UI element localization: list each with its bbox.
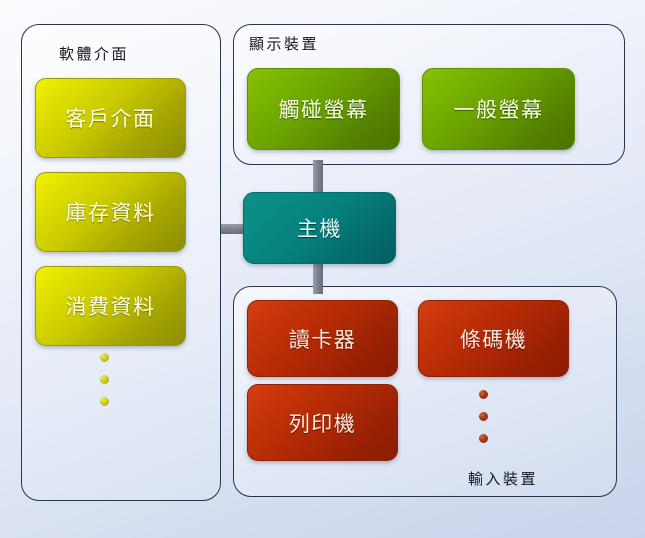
node-label-host: 主機 [297,213,342,243]
node-label-printer: 列印機 [289,408,357,438]
ellipsis-dot-input-2 [479,412,488,421]
group-label-input-devices: 輸入裝置 [468,468,538,489]
node-host[interactable]: 主機 [243,192,396,264]
node-label-consumption-data: 消費資料 [66,291,156,321]
ellipsis-dot-input-1 [479,390,488,399]
node-touch-screen[interactable]: 觸碰螢幕 [247,68,400,150]
ellipsis-dot-input-3 [479,434,488,443]
node-label-customer-interface: 客戶介面 [66,103,156,133]
node-inventory-data[interactable]: 庫存資料 [35,172,186,252]
node-label-touch-screen: 觸碰螢幕 [279,94,369,124]
node-customer-interface[interactable]: 客戶介面 [35,78,186,158]
node-label-barcode-scanner: 條碼機 [460,324,528,354]
node-printer[interactable]: 列印機 [247,384,398,461]
ellipsis-dot-software-3 [100,397,109,406]
node-label-normal-screen: 一般螢幕 [454,94,544,124]
group-label-software-interface: 軟體介面 [59,43,129,64]
node-barcode-scanner[interactable]: 條碼機 [418,300,569,377]
node-card-reader[interactable]: 讀卡器 [247,300,398,377]
group-label-display-devices: 顯示裝置 [249,33,319,54]
node-consumption-data[interactable]: 消費資料 [35,266,186,346]
ellipsis-dot-software-1 [100,353,109,362]
ellipsis-dot-software-2 [100,375,109,384]
node-label-inventory-data: 庫存資料 [66,197,156,227]
node-normal-screen[interactable]: 一般螢幕 [422,68,575,150]
node-label-card-reader: 讀卡器 [289,324,357,354]
diagram-canvas: 軟體介面 客戶介面 庫存資料 消費資料 顯示裝置 觸碰螢幕 一般螢幕 輸入裝置 … [0,0,645,538]
